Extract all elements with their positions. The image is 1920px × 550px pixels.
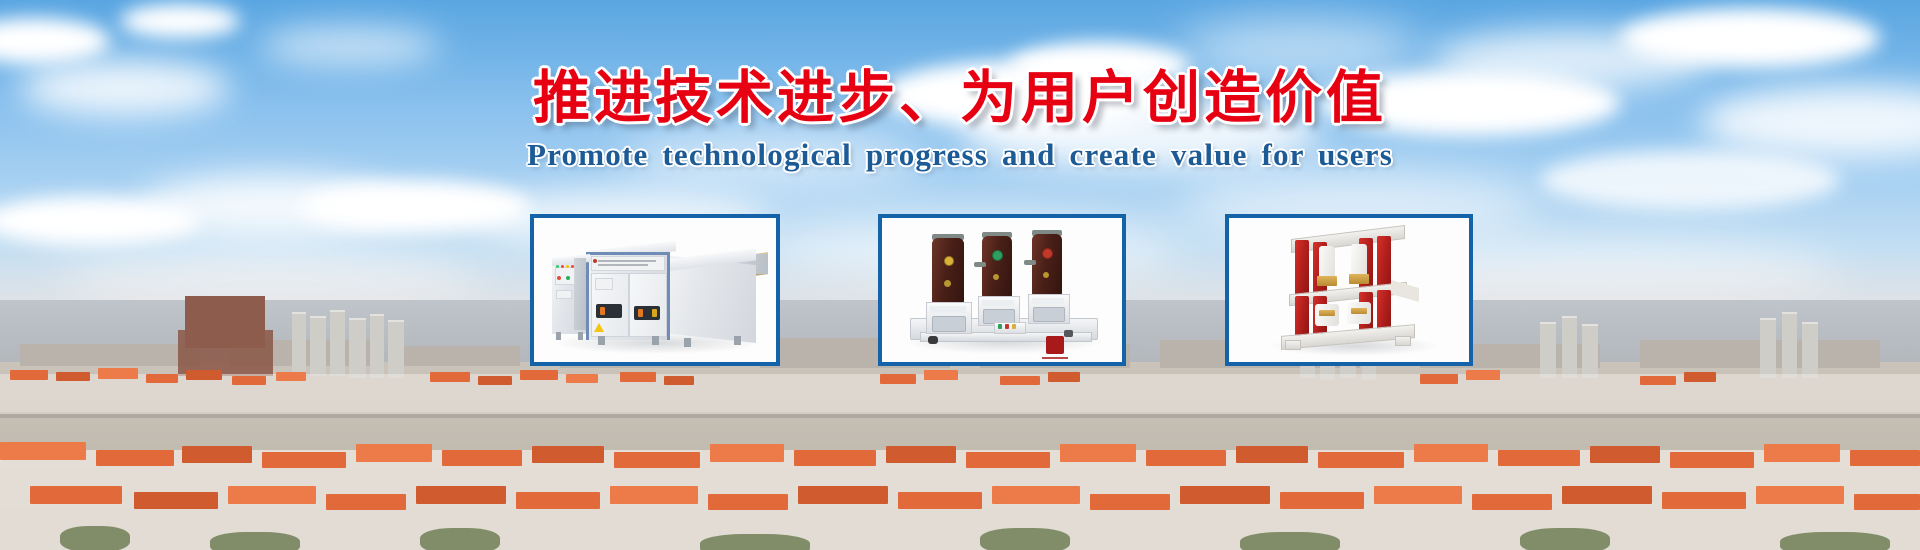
product-1-switchgear-cabinet bbox=[534, 218, 776, 362]
pole-window bbox=[1033, 307, 1065, 322]
base-foot bbox=[1285, 340, 1301, 350]
vacuum-pole bbox=[982, 236, 1012, 298]
pole-nameplate bbox=[930, 306, 966, 313]
cabinet-edge bbox=[667, 254, 670, 340]
cabinet-edge bbox=[586, 252, 670, 255]
cabinet-door-right bbox=[629, 273, 667, 337]
cabinet-edge bbox=[586, 252, 589, 340]
vacuum-interrupter bbox=[1319, 246, 1335, 280]
promo-banner: 推进技术进步、为用户创造价值 Promote technological pro… bbox=[0, 0, 1920, 550]
product-3-hv-vacuum-contactor bbox=[1229, 218, 1469, 362]
insulating-column bbox=[1295, 240, 1309, 296]
brand-logo-text bbox=[1042, 357, 1068, 359]
control-panel-plate bbox=[556, 290, 572, 299]
insulating-column bbox=[1295, 296, 1309, 336]
product-gallery bbox=[0, 214, 1920, 366]
control-panel-side bbox=[574, 258, 586, 330]
product-image-2[interactable] bbox=[878, 214, 1126, 366]
banner-headline: 推进技术进步、为用户创造价值 bbox=[0, 52, 1920, 134]
brand-logo-icon bbox=[1046, 336, 1064, 354]
pole-window bbox=[932, 316, 966, 332]
copper-contact bbox=[1317, 276, 1337, 286]
nameplate-logo bbox=[593, 259, 597, 263]
product-2-vacuum-contactor bbox=[882, 218, 1122, 362]
vacuum-pole bbox=[1032, 234, 1062, 296]
base-foot bbox=[1395, 336, 1411, 346]
side-bracket bbox=[1391, 280, 1419, 302]
product-image-1[interactable] bbox=[530, 214, 780, 366]
warning-icon bbox=[594, 323, 604, 332]
vacuum-interrupter bbox=[1351, 244, 1367, 278]
pole-nameplate bbox=[1032, 298, 1064, 304]
product-image-3[interactable] bbox=[1225, 214, 1473, 366]
pole-nameplate bbox=[982, 300, 1014, 306]
copper-contact bbox=[1349, 274, 1369, 284]
cloud bbox=[120, 4, 240, 38]
vacuum-pole bbox=[932, 238, 964, 304]
door-label bbox=[595, 278, 613, 290]
banner-subtitle: Promote technological progress and creat… bbox=[0, 137, 1920, 173]
